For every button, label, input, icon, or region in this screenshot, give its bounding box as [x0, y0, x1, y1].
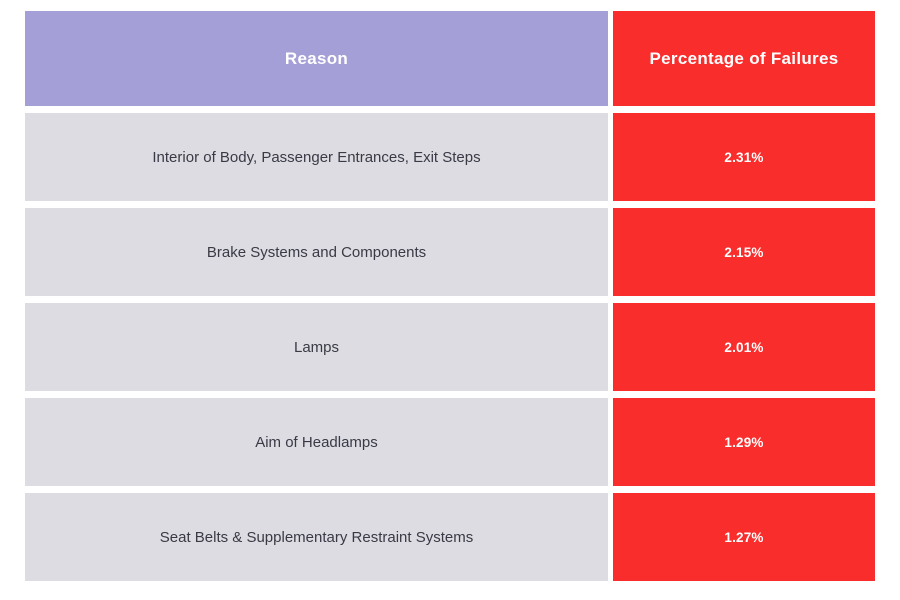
column-header-percentage-of-failures: Percentage of Failures: [613, 11, 875, 106]
failures-table: Reason Percentage of Failures Interior o…: [25, 11, 875, 575]
table-row: Interior of Body, Passenger Entrances, E…: [25, 113, 875, 201]
cell-reason: Interior of Body, Passenger Entrances, E…: [25, 113, 608, 201]
table-header-row: Reason Percentage of Failures: [25, 11, 875, 106]
cell-percentage: 2.15%: [613, 208, 875, 296]
cell-reason: Seat Belts & Supplementary Restraint Sys…: [25, 493, 608, 581]
cell-reason: Aim of Headlamps: [25, 398, 608, 486]
cell-percentage: 2.31%: [613, 113, 875, 201]
table-row: Lamps 2.01%: [25, 303, 875, 391]
cell-percentage: 1.27%: [613, 493, 875, 581]
table-row: Seat Belts & Supplementary Restraint Sys…: [25, 493, 875, 581]
table-row: Brake Systems and Components 2.15%: [25, 208, 875, 296]
cell-percentage: 1.29%: [613, 398, 875, 486]
column-header-reason: Reason: [25, 11, 608, 106]
table-row: Aim of Headlamps 1.29%: [25, 398, 875, 486]
cell-reason: Brake Systems and Components: [25, 208, 608, 296]
cell-percentage: 2.01%: [613, 303, 875, 391]
cell-reason: Lamps: [25, 303, 608, 391]
